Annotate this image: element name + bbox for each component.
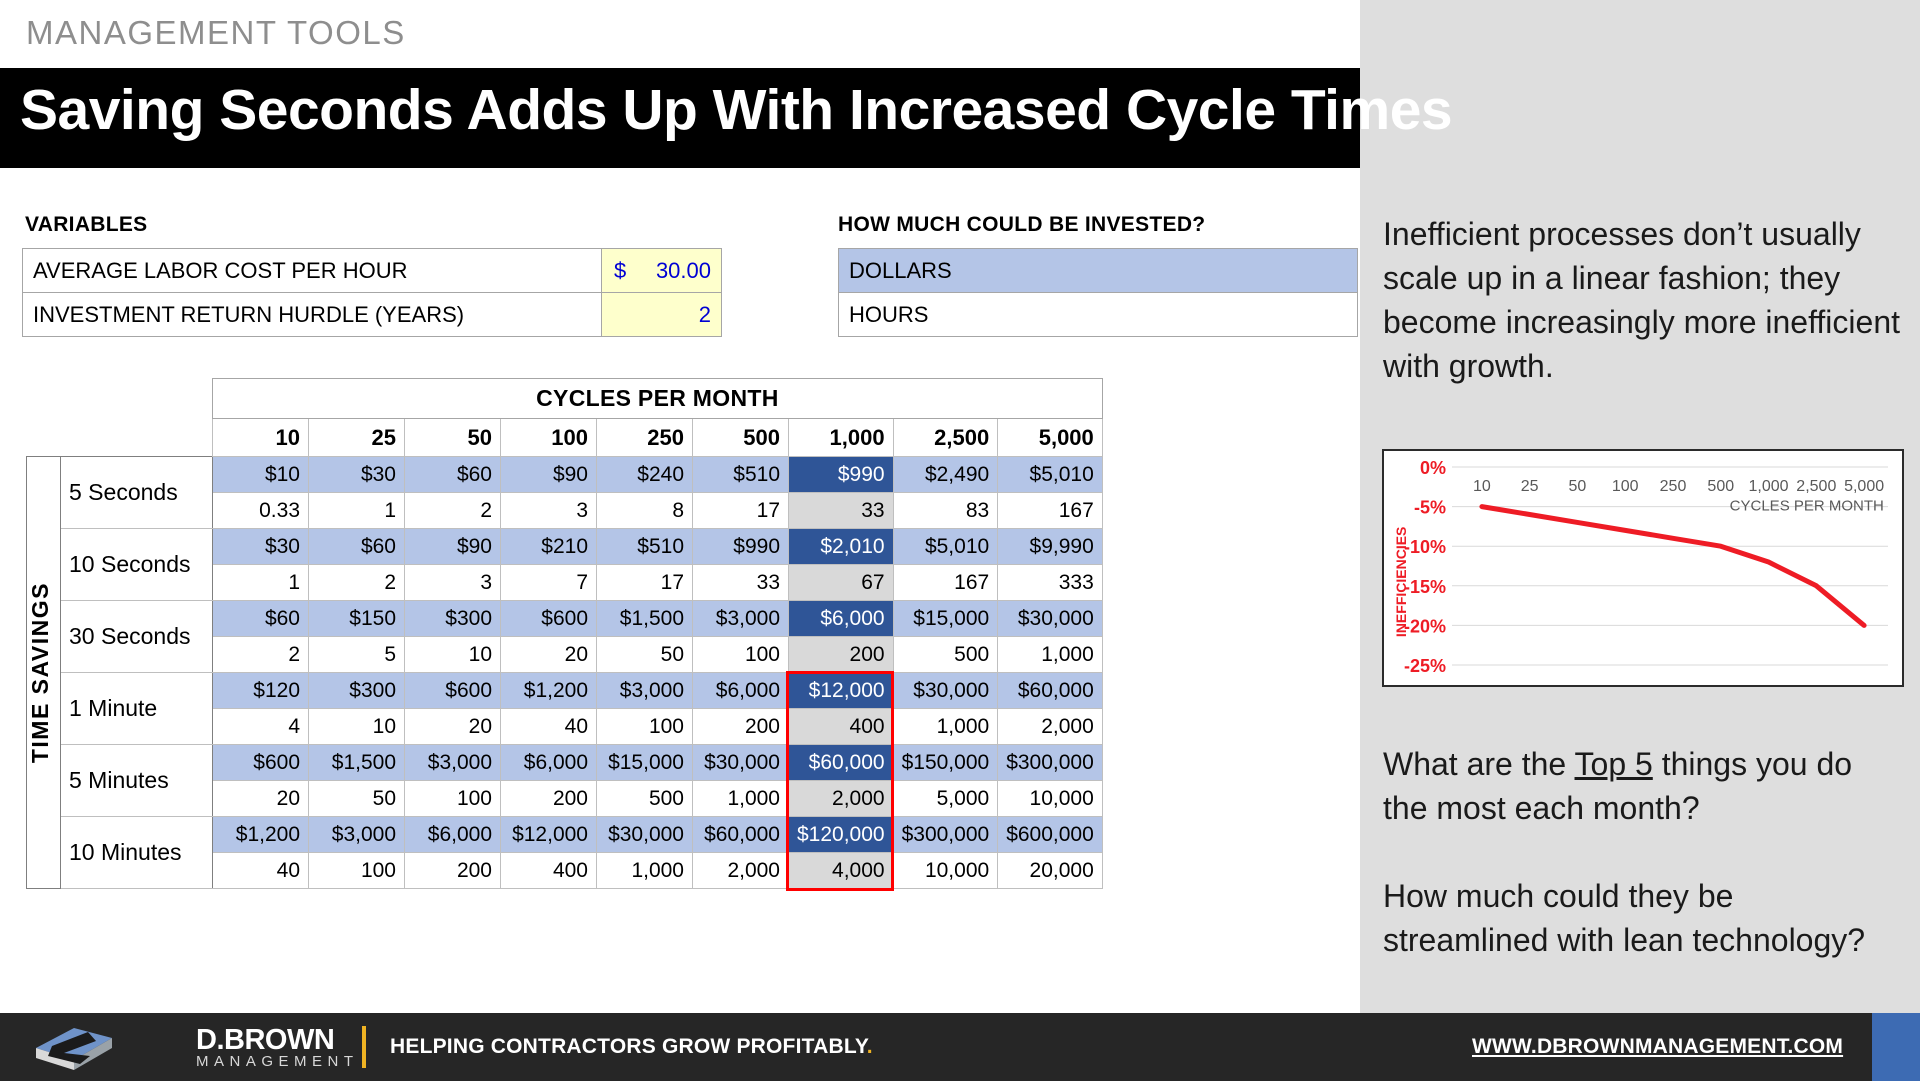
- cell-hours: 10: [309, 709, 405, 745]
- cell-hours: 0.33: [213, 493, 309, 529]
- cell-hours: 400: [501, 853, 597, 889]
- row-label-5-minutes: 5 Minutes: [61, 745, 213, 817]
- row-label-1-minute: 1 Minute: [61, 673, 213, 745]
- cell-money: $600: [501, 601, 597, 637]
- cell-money: $5,010: [998, 457, 1103, 493]
- cell-hours: 3: [405, 565, 501, 601]
- cell-hours: 20: [405, 709, 501, 745]
- cell-hours: 200: [501, 781, 597, 817]
- cell-money: $240: [597, 457, 693, 493]
- cell-hours: 100: [597, 709, 693, 745]
- cell-hours: 8: [597, 493, 693, 529]
- cell-hours: 100: [405, 781, 501, 817]
- brand-divider: [362, 1026, 366, 1068]
- column-header-50[interactable]: 50: [405, 419, 501, 457]
- chart-ytick-label: -20%: [1404, 616, 1446, 636]
- cell-hours: 167: [893, 565, 998, 601]
- cell-money: $6,000: [501, 745, 597, 781]
- cell-money: $12,000: [789, 673, 894, 709]
- chart-xtick-label: 2,500: [1796, 478, 1836, 495]
- cell-hours: 3: [501, 493, 597, 529]
- page-title: Saving Seconds Adds Up With Increased Cy…: [20, 77, 1452, 143]
- variable-amount: 2: [699, 302, 711, 327]
- cell-money: $600,000: [998, 817, 1103, 853]
- cell-hours: 10: [405, 637, 501, 673]
- cell-money: $30,000: [893, 673, 998, 709]
- chart-xtick-label: 25: [1521, 478, 1539, 495]
- inefficiencies-chart-svg: 0%-5%-10%-15%-20%-25%INEFFICIENCIES10255…: [1384, 451, 1902, 685]
- table-row: 10 Seconds$30$60$90$210$510$990$2,010$5,…: [27, 529, 1103, 565]
- cell-money: $300: [309, 673, 405, 709]
- table-row: HOURS: [839, 293, 1358, 337]
- cell-hours: 2,000: [789, 781, 894, 817]
- question-underlined: Top 5: [1575, 746, 1653, 782]
- cell-money: $510: [597, 529, 693, 565]
- table-row: 1 Minute$120$300$600$1,200$3,000$6,000$1…: [27, 673, 1103, 709]
- chart-ytick-label: -5%: [1414, 498, 1446, 518]
- cell-hours: 400: [789, 709, 894, 745]
- cell-hours: 167: [998, 493, 1103, 529]
- cell-hours: 20: [213, 781, 309, 817]
- cell-money: $60,000: [789, 745, 894, 781]
- variable-value-return-hurdle[interactable]: 2: [602, 293, 722, 337]
- cell-money: $30,000: [998, 601, 1103, 637]
- savings-matrix: CYCLES PER MONTH1025501002505001,0002,50…: [26, 378, 1103, 889]
- cell-money: $120: [213, 673, 309, 709]
- sidebar-question: What are the Top 5 things you do the mos…: [1383, 742, 1903, 830]
- cell-hours: 20: [501, 637, 597, 673]
- cell-money: $1,500: [597, 601, 693, 637]
- column-header-5000[interactable]: 5,000: [998, 419, 1103, 457]
- invested-options-table: DOLLARS HOURS: [838, 248, 1358, 337]
- cell-money: $10: [213, 457, 309, 493]
- cell-money: $3,000: [405, 745, 501, 781]
- cell-hours: 10,000: [893, 853, 998, 889]
- variable-value-labor-cost[interactable]: $30.00: [602, 249, 722, 293]
- cell-money: $30: [213, 529, 309, 565]
- cell-hours: 17: [693, 493, 789, 529]
- variable-amount: 30.00: [656, 258, 711, 283]
- cell-money: $3,000: [693, 601, 789, 637]
- cell-hours: 4,000: [789, 853, 894, 889]
- eyebrow-label: MANAGEMENT TOOLS: [26, 14, 406, 52]
- cell-hours: 1,000: [998, 637, 1103, 673]
- table-row: CYCLES PER MONTH: [27, 379, 1103, 419]
- column-header-2500[interactable]: 2,500: [893, 419, 998, 457]
- currency-symbol: $: [614, 258, 626, 284]
- cell-money: $990: [693, 529, 789, 565]
- cell-money: $3,000: [309, 817, 405, 853]
- cell-hours: 1: [213, 565, 309, 601]
- row-label-5-seconds: 5 Seconds: [61, 457, 213, 529]
- cell-money: $1,200: [501, 673, 597, 709]
- chart-xtick-label: 250: [1660, 478, 1687, 495]
- cell-hours: 333: [998, 565, 1103, 601]
- cell-hours: 33: [789, 493, 894, 529]
- row-label-30-seconds: 30 Seconds: [61, 601, 213, 673]
- column-header-10[interactable]: 10: [213, 419, 309, 457]
- cell-money: $150,000: [893, 745, 998, 781]
- cell-hours: 200: [789, 637, 894, 673]
- table-row: 30 Seconds$60$150$300$600$1,500$3,000$6,…: [27, 601, 1103, 637]
- cell-money: $2,490: [893, 457, 998, 493]
- cell-hours: 4: [213, 709, 309, 745]
- chart-xtick-label: 10: [1473, 478, 1491, 495]
- table-row: DOLLARS: [839, 249, 1358, 293]
- slide-root: MANAGEMENT TOOLS Saving Seconds Adds Up …: [0, 0, 1920, 1081]
- footer-tagline-dot: .: [867, 1035, 873, 1058]
- cell-money: $12,000: [501, 817, 597, 853]
- chart-ytick-label: -10%: [1404, 537, 1446, 557]
- footer-tagline: HELPING CONTRACTORS GROW PROFITABLY.: [390, 1035, 873, 1059]
- cell-money: $15,000: [597, 745, 693, 781]
- variable-label-labor-cost: AVERAGE LABOR COST PER HOUR: [23, 249, 602, 293]
- cell-hours: 2,000: [693, 853, 789, 889]
- cell-money: $5,010: [893, 529, 998, 565]
- cell-hours: 17: [597, 565, 693, 601]
- cell-hours: 1,000: [693, 781, 789, 817]
- cell-money: $510: [693, 457, 789, 493]
- cell-hours: 1,000: [597, 853, 693, 889]
- cell-hours: 5,000: [893, 781, 998, 817]
- cell-money: $30,000: [693, 745, 789, 781]
- chart-xlabel: CYCLES PER MONTH: [1730, 498, 1884, 515]
- cell-hours: 83: [893, 493, 998, 529]
- column-header-500[interactable]: 500: [693, 419, 789, 457]
- cell-money: $210: [501, 529, 597, 565]
- cell-hours: 67: [789, 565, 894, 601]
- cell-hours: 5: [309, 637, 405, 673]
- cell-hours: 50: [309, 781, 405, 817]
- chart-xtick-label: 50: [1569, 478, 1587, 495]
- cell-money: $300,000: [998, 745, 1103, 781]
- column-header-250[interactable]: 250: [597, 419, 693, 457]
- cell-money: $60: [309, 529, 405, 565]
- cell-money: $30: [309, 457, 405, 493]
- table-row: INVESTMENT RETURN HURDLE (YEARS) 2: [23, 293, 722, 337]
- invested-section-label: HOW MUCH COULD BE INVESTED?: [838, 213, 1205, 237]
- column-header-100[interactable]: 100: [501, 419, 597, 457]
- sidebar-paragraph-bottom: How much could they be streamlined with …: [1383, 874, 1903, 962]
- chart-ytick-label: 0%: [1420, 458, 1446, 478]
- chart-series-line: [1482, 507, 1864, 626]
- matrix-corner-blank: [61, 419, 213, 457]
- cell-hours: 500: [597, 781, 693, 817]
- cell-money: $30,000: [597, 817, 693, 853]
- cell-hours: 2,000: [998, 709, 1103, 745]
- cell-money: $2,010: [789, 529, 894, 565]
- cell-money: $3,000: [597, 673, 693, 709]
- cell-money: $15,000: [893, 601, 998, 637]
- cell-hours: 2: [309, 565, 405, 601]
- chart-ytick-label: -25%: [1404, 656, 1446, 676]
- cell-money: $150: [309, 601, 405, 637]
- variable-label-return-hurdle: INVESTMENT RETURN HURDLE (YEARS): [23, 293, 602, 337]
- matrix-corner-blank: [61, 379, 213, 419]
- cell-money: $1,500: [309, 745, 405, 781]
- cell-hours: 500: [893, 637, 998, 673]
- cell-hours: 1,000: [893, 709, 998, 745]
- cell-hours: 2: [405, 493, 501, 529]
- cell-money: $1,200: [213, 817, 309, 853]
- variables-section-label: VARIABLES: [25, 213, 148, 237]
- cell-money: $600: [213, 745, 309, 781]
- cell-money: $60,000: [693, 817, 789, 853]
- cell-money: $300: [405, 601, 501, 637]
- chart-ylabel: INEFFICIENCIES: [1393, 527, 1409, 637]
- cell-hours: 1: [309, 493, 405, 529]
- inefficiencies-chart: 0%-5%-10%-15%-20%-25%INEFFICIENCIES10255…: [1382, 449, 1904, 687]
- row-label-10-minutes: 10 Minutes: [61, 817, 213, 889]
- column-header-1000[interactable]: 1,000: [789, 419, 894, 457]
- cell-money: $6,000: [405, 817, 501, 853]
- cell-money: $90: [405, 529, 501, 565]
- cell-hours: 100: [309, 853, 405, 889]
- chart-xtick-label: 100: [1612, 478, 1639, 495]
- table-row: 10 Minutes$1,200$3,000$6,000$12,000$30,0…: [27, 817, 1103, 853]
- row-label-10-seconds: 10 Seconds: [61, 529, 213, 601]
- cell-hours: 50: [597, 637, 693, 673]
- cell-money: $990: [789, 457, 894, 493]
- cell-money: $6,000: [693, 673, 789, 709]
- cell-hours: 200: [693, 709, 789, 745]
- footer-accent-block: [1872, 1013, 1920, 1081]
- cell-money: $90: [501, 457, 597, 493]
- brand-subtitle: MANAGEMENT: [196, 1053, 359, 1070]
- cell-hours: 10,000: [998, 781, 1103, 817]
- cell-hours: 7: [501, 565, 597, 601]
- table-row: AVERAGE LABOR COST PER HOUR $30.00: [23, 249, 722, 293]
- cell-money: $6,000: [789, 601, 894, 637]
- cell-hours: 40: [501, 709, 597, 745]
- chart-xtick-label: 1,000: [1749, 478, 1789, 495]
- column-header-25[interactable]: 25: [309, 419, 405, 457]
- invested-option-dollars[interactable]: DOLLARS: [839, 249, 1358, 293]
- column-group-title: CYCLES PER MONTH: [213, 379, 1103, 419]
- cell-hours: 40: [213, 853, 309, 889]
- eyebrow-bar-right-filler: [1360, 0, 1920, 68]
- chart-ytick-label: -15%: [1404, 577, 1446, 597]
- table-row: 5 Minutes$600$1,500$3,000$6,000$15,000$3…: [27, 745, 1103, 781]
- cell-hours: 2: [213, 637, 309, 673]
- cell-money: $9,990: [998, 529, 1103, 565]
- sidebar-paragraph-top: Inefficient processes don’t usually scal…: [1383, 212, 1903, 388]
- matrix-corner-blank: [27, 379, 61, 419]
- cell-money: $60,000: [998, 673, 1103, 709]
- cell-money: $60: [213, 601, 309, 637]
- chart-xtick-label: 5,000: [1844, 478, 1884, 495]
- cell-hours: 20,000: [998, 853, 1103, 889]
- cell-hours: 33: [693, 565, 789, 601]
- footer-tagline-text: HELPING CONTRACTORS GROW PROFITABLY: [390, 1035, 867, 1058]
- cell-hours: 200: [405, 853, 501, 889]
- cell-money: $60: [405, 457, 501, 493]
- cell-money: $300,000: [893, 817, 998, 853]
- cell-hours: 100: [693, 637, 789, 673]
- cell-money: $120,000: [789, 817, 894, 853]
- table-row: 1025501002505001,0002,5005,000: [27, 419, 1103, 457]
- invested-option-hours[interactable]: HOURS: [839, 293, 1358, 337]
- row-group-title: TIME SAVINGS: [27, 457, 61, 889]
- table-row: TIME SAVINGS5 Seconds$10$30$60$90$240$51…: [27, 457, 1103, 493]
- matrix-corner-blank: [27, 419, 61, 457]
- variables-table: AVERAGE LABOR COST PER HOUR $30.00 INVES…: [22, 248, 722, 337]
- cell-money: $600: [405, 673, 501, 709]
- chart-xtick-label: 500: [1707, 478, 1734, 495]
- question-prefix: What are the: [1383, 746, 1575, 782]
- footer-website-link[interactable]: WWW.DBROWNMANAGEMENT.COM: [1472, 1035, 1843, 1059]
